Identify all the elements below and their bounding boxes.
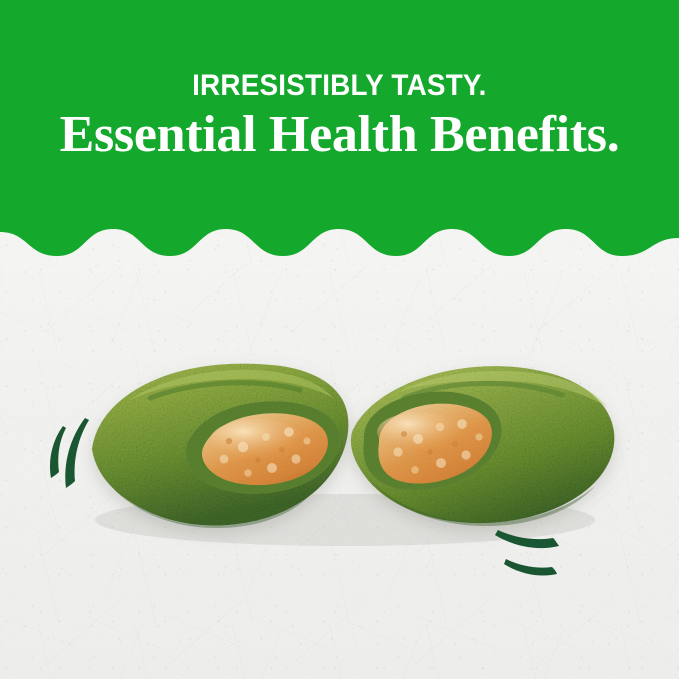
headline-block: IRRESISTIBLY TASTY. Essential Health Ben…: [0, 0, 679, 232]
product-banner: IRRESISTIBLY TASTY. Essential Health Ben…: [0, 0, 679, 679]
eyebrow-text: IRRESISTIBLY TASTY.: [192, 71, 486, 101]
page-title: Essential Health Benefits.: [60, 109, 620, 161]
